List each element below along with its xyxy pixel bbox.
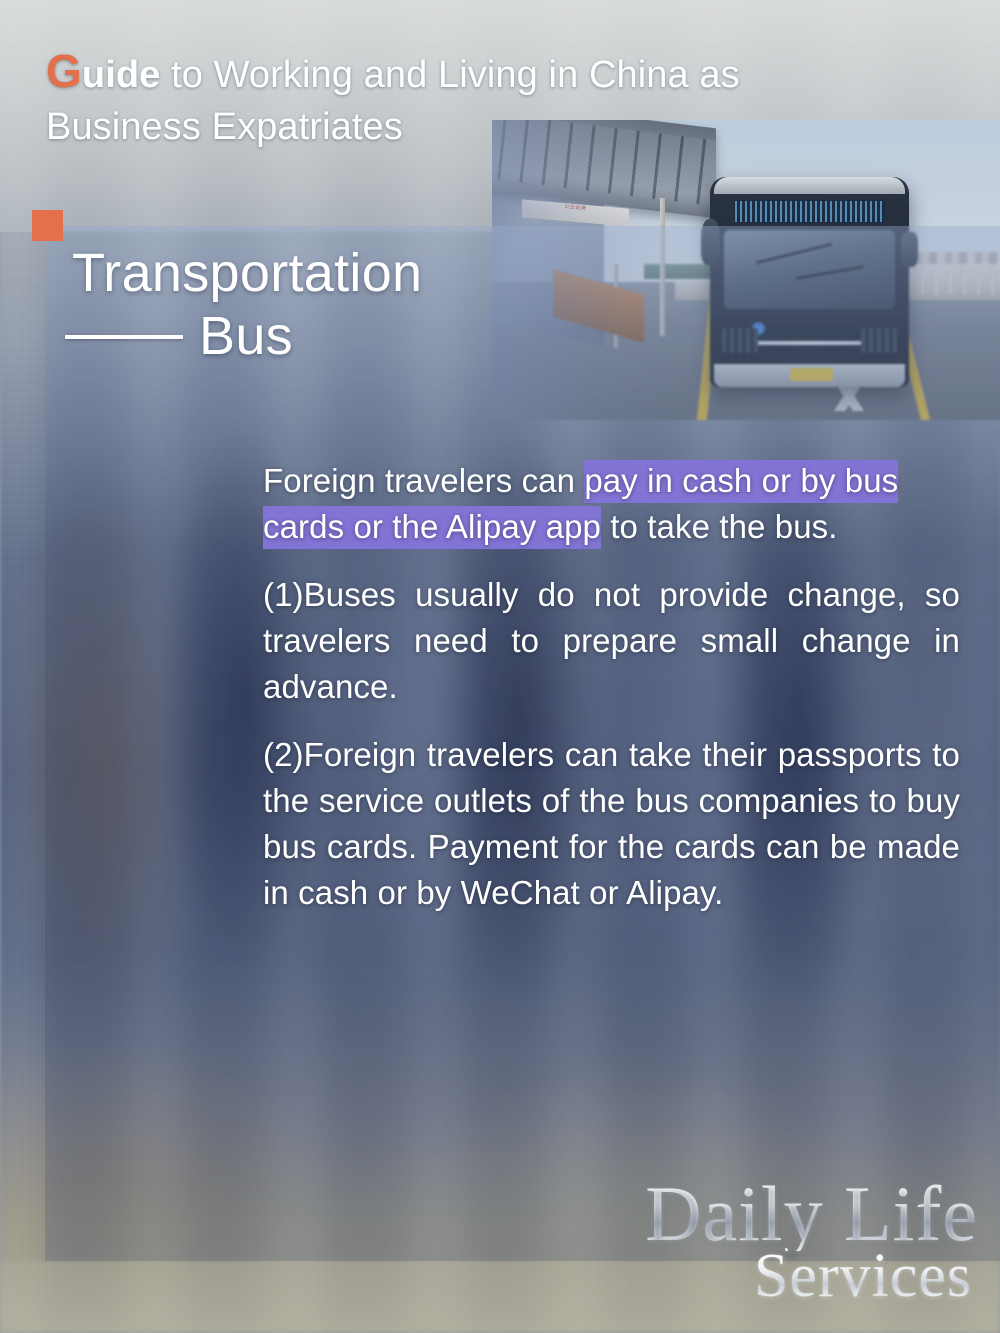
footer-logo: Daily Life Services — [645, 1177, 978, 1307]
section-title: Transportation — [72, 246, 632, 301]
section-subtitle-row: Bus — [72, 309, 632, 364]
section-title-block: Transportation Bus — [72, 246, 632, 364]
poster-root: 公交站牌 Guide to Working and Living in Chin — [0, 0, 1000, 1333]
paragraph-item-1: (1)Buses usually do not provide change, … — [263, 572, 960, 710]
header: Guide to Working and Living in China as … — [46, 50, 876, 153]
paragraph-item-2: (2)Foreign travelers can take their pass… — [263, 732, 960, 916]
title-lead-word: uide — [82, 54, 161, 96]
intro-text-before: Foreign travelers can — [263, 462, 584, 499]
orange-accent-square — [32, 210, 63, 241]
body-copy: Foreign travelers can pay in cash or by … — [263, 458, 960, 916]
section-subtitle: Bus — [199, 309, 293, 364]
page-title: Guide to Working and Living in China as … — [46, 50, 876, 153]
section-title-rule — [65, 335, 183, 339]
logo-main-text: Daily Life — [645, 1177, 978, 1251]
logo-sub-text: Services — [645, 1245, 972, 1307]
intro-text-after: to take the bus. — [601, 508, 838, 545]
title-drop-cap: G — [46, 45, 82, 97]
paragraph-intro: Foreign travelers can pay in cash or by … — [263, 458, 960, 550]
